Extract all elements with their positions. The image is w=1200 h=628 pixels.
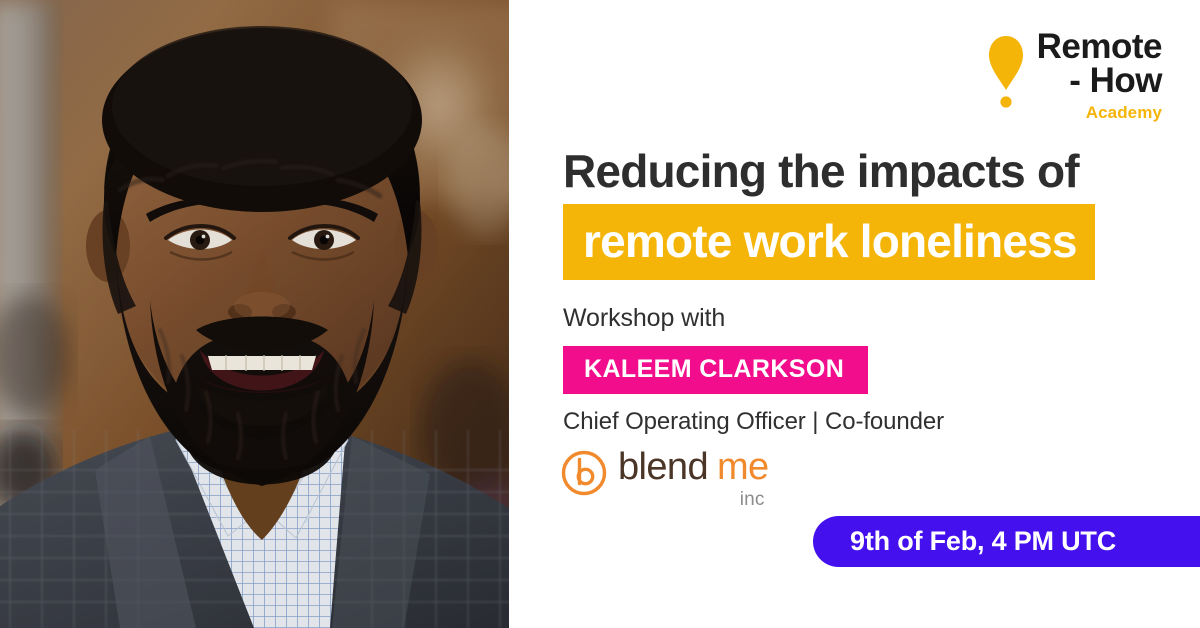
speaker-name-wrap: KALEEM CLARKSON [563,346,1183,394]
event-date-text: 9th of Feb, 4 PM UTC [850,526,1116,557]
speaker-name-highlight: KALEEM CLARKSON [563,346,868,394]
speaker-info: Workshop with KALEEM CLARKSON Chief Oper… [563,303,1183,437]
balloon-pin-icon [987,34,1025,112]
blendme-wordmark: blend me inc [618,448,769,511]
company-word-accent: me [717,448,769,486]
webinar-promo-banner: Remote - How Academy Reducing the impact… [0,0,1200,628]
headline-highlight-wrap: remote work loneliness [563,204,1183,280]
speaker-role: Chief Operating Officer | Co-founder [563,408,1183,437]
blendme-inc-logo: blend me inc [561,448,769,511]
speaker-photo [0,0,509,628]
headline: Reducing the impacts of remote work lone… [563,146,1183,280]
brand-line-1: Remote [1037,30,1162,64]
brand-sublabel: Academy [1086,102,1162,124]
speaker-portrait-image [0,0,509,628]
company-word-suffix: inc [740,489,765,511]
brand-wordmark: Remote - How Academy [1037,30,1162,124]
brand-line-2: - How [1069,64,1162,98]
workshop-intro-label: Workshop with [563,303,1183,333]
company-word-primary: blend [618,448,708,486]
blendme-word-row: blend me [618,448,769,486]
headline-line-1: Reducing the impacts of [563,146,1183,198]
headline-line-2-highlight: remote work loneliness [563,204,1095,280]
event-date-badge: 9th of Feb, 4 PM UTC [813,516,1200,567]
blendme-b-circle-icon [561,450,607,496]
remote-how-academy-logo: Remote - How Academy [987,30,1162,124]
